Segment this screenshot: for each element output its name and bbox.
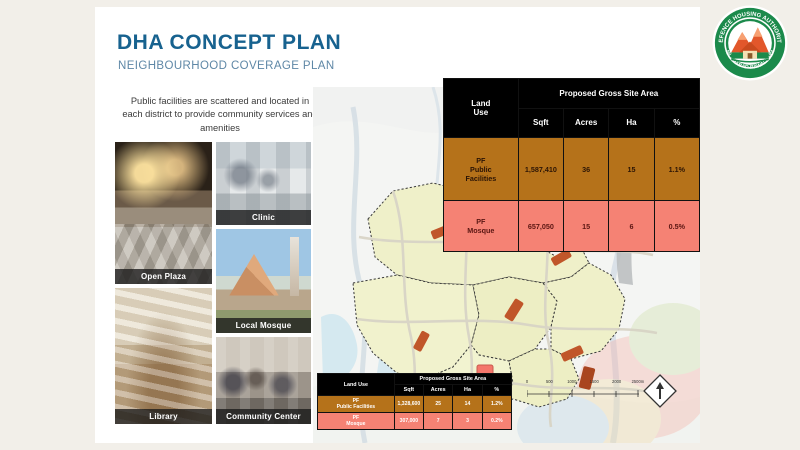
scale-line [527,390,639,397]
table-row: PF Mosque 307,000 7 3 0.2% [318,413,512,430]
photo-library: Library [115,288,212,424]
land-use-table-top: Land Use Proposed Gross Site Area Sqft A… [443,78,700,252]
cell-pct: 1.1% [654,138,699,201]
scale-tick: 2000 [612,379,621,384]
north-arrow-icon [643,374,677,408]
cell-land-use: PF Public Facilities [444,138,519,201]
cell-ha: 6 [609,201,654,252]
cell-land-use: PF Public Facilities [318,396,395,413]
photo-grid: Open Plaza Clinic Local Mosque Library C… [115,142,311,424]
col-header-acres: Acres [424,385,453,396]
dha-authority-logo: DEFENCE HOUSING AUTHORITY ISLAMABAD-RAWA… [711,4,789,82]
page-subtitle: NEIGHBOURHOOD COVERAGE PLAN [118,60,335,72]
scale-tick: 1000 [567,379,576,384]
photo-caption: Local Mosque [216,318,311,333]
cell-acres: 25 [424,396,453,413]
cell-acres: 7 [424,413,453,430]
col-header-ha: Ha [609,108,654,138]
photo-caption: Community Center [216,409,311,424]
col-header-land-use: Land Use [318,374,395,396]
col-header-acres: Acres [564,108,609,138]
col-header-group: Proposed Gross Site Area [518,79,699,109]
photo-clinic: Clinic [216,142,311,225]
intro-text: Public facilities are scattered and loca… [120,95,320,135]
cell-pct: 1.2% [482,396,511,413]
cell-ha: 15 [609,138,654,201]
scale-tick: 2500m [632,379,645,384]
table-row: PF Public Facilities 1,587,410 36 15 1.1… [444,138,700,201]
cell-ha: 3 [453,413,482,430]
col-header-sqft: Sqft [394,385,423,396]
cell-ha: 14 [453,396,482,413]
scale-tick: 500 [546,379,553,384]
table-row: PF Public Facilities 1,328,600 25 14 1.2… [318,396,512,413]
cell-sqft: 1,328,600 [394,396,423,413]
photo-caption: Open Plaza [115,269,212,284]
scale-tick: 0 [526,379,528,384]
logo-emblem [730,23,771,64]
land-use-table-bottom: Land Use Proposed Gross Site Area Sqft A… [317,373,512,430]
col-header-group: Proposed Gross Site Area [394,374,511,385]
scale-tick-labels: 0 500 1000 1500 2000 2500m [527,379,639,388]
map-scale-bar: 0 500 1000 1500 2000 2500m [527,379,639,401]
photo-caption: Clinic [216,210,311,225]
col-header-ha: Ha [453,385,482,396]
scale-tick: 1500 [590,379,599,384]
page-title: DHA CONCEPT PLAN [117,31,341,55]
photo-caption: Library [115,409,212,424]
table-row: PF Mosque 657,050 15 6 0.5% [444,201,700,252]
cell-land-use: PF Mosque [444,201,519,252]
screenshot-stage: DHA CONCEPT PLAN NEIGHBOURHOOD COVERAGE … [0,0,800,450]
cell-acres: 15 [564,201,609,252]
cell-land-use: PF Mosque [318,413,395,430]
col-header-land-use: Land Use [444,79,519,138]
open-plaza-image [115,142,212,284]
photo-open-plaza: Open Plaza [115,142,212,284]
photo-community-center: Community Center [216,337,311,424]
cell-pct: 0.2% [482,413,511,430]
cell-sqft: 657,050 [518,201,563,252]
cell-sqft: 307,000 [394,413,423,430]
cell-sqft: 1,587,410 [518,138,563,201]
photo-local-mosque: Local Mosque [216,229,311,333]
col-header-pct: % [654,108,699,138]
cell-pct: 0.5% [654,201,699,252]
col-header-sqft: Sqft [518,108,563,138]
cell-acres: 36 [564,138,609,201]
col-header-pct: % [482,385,511,396]
library-image [115,288,212,424]
